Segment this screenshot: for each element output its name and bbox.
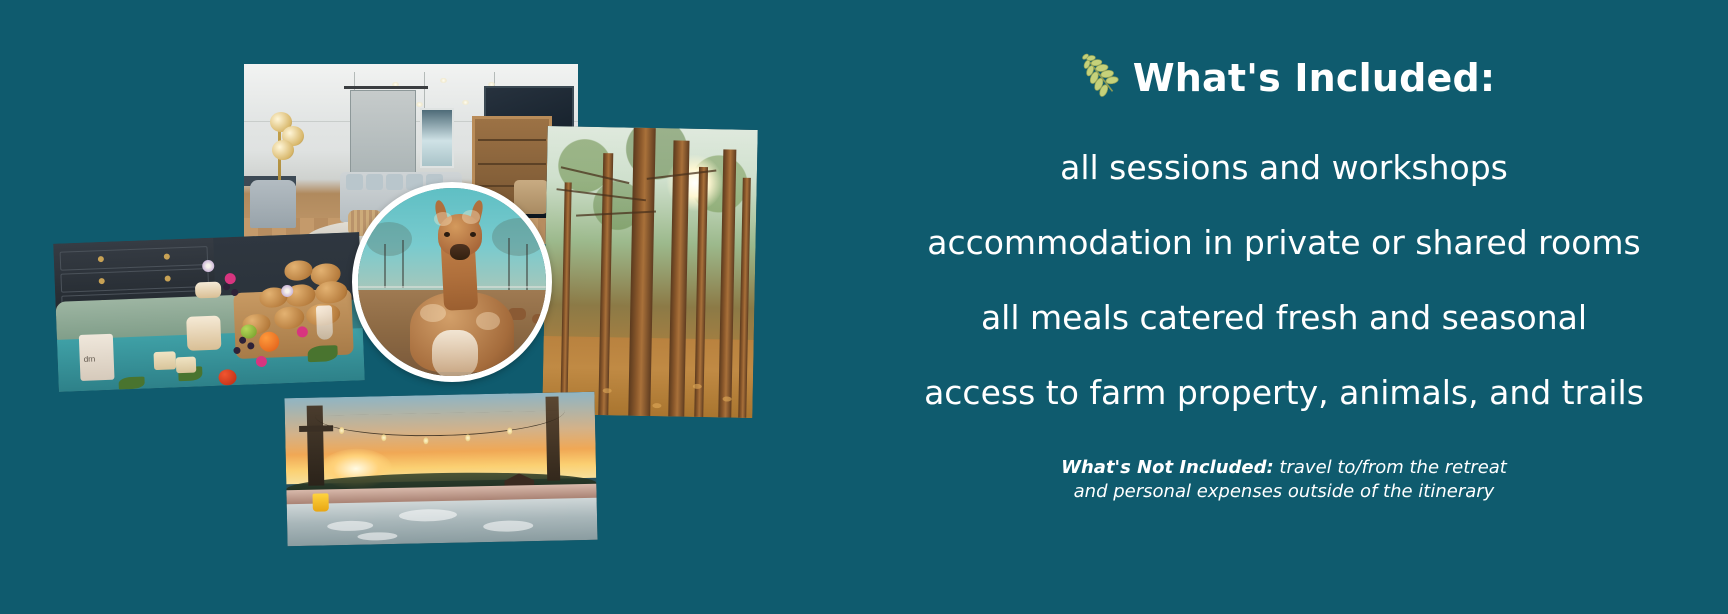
photo-collage: drn [0, 0, 840, 614]
included-text-panel: What's Included: all sessions and worksh… [840, 0, 1728, 614]
lr-barn-door [350, 90, 416, 184]
included-item: access to farm property, animals, and tr… [924, 355, 1644, 430]
heading-row: What's Included: [1073, 52, 1496, 104]
not-included-value: travel to/from the retreat [1274, 457, 1507, 478]
ht-drink-cup [312, 493, 328, 511]
not-included-note: What's Not Included: travel to/from the … [1061, 456, 1507, 505]
page-title: What's Included: [1133, 56, 1496, 100]
grazing-table-photo: drn [53, 232, 364, 392]
lr-window [420, 108, 454, 168]
alpaca-photo [352, 182, 552, 382]
not-included-label: What's Not Included: [1061, 457, 1274, 478]
included-list: all sessions and workshops accommodation… [840, 130, 1728, 430]
fd-jar-label: drn [84, 354, 110, 367]
leaf-sprig-icon [1073, 52, 1125, 104]
whats-included-banner: drn [0, 0, 1728, 614]
lr-desk-chair [250, 180, 296, 228]
not-included-line-2: and personal expenses outside of the iti… [1061, 480, 1507, 504]
not-included-line-1: What's Not Included: travel to/from the … [1061, 456, 1507, 480]
included-item: all meals catered fresh and seasonal [981, 280, 1587, 355]
hot-tub-photo [284, 392, 597, 546]
included-item: all sessions and workshops [1060, 130, 1508, 205]
included-item: accommodation in private or shared rooms [927, 205, 1641, 280]
forest-photo [542, 126, 757, 418]
al-muzzle [450, 244, 470, 260]
